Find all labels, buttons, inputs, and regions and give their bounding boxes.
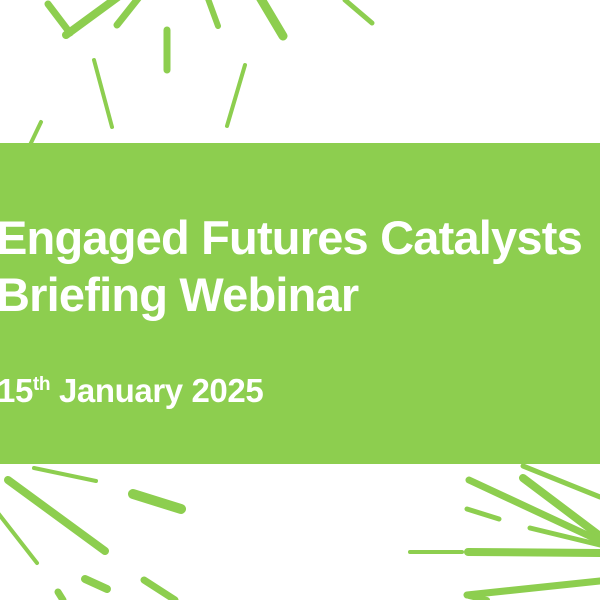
ray <box>30 122 41 145</box>
ray <box>34 468 96 481</box>
ray <box>144 580 175 600</box>
ray <box>58 592 63 600</box>
title-banner-text: Engaged Futures Catalysts Briefing Webin… <box>0 143 600 464</box>
ray <box>227 65 245 126</box>
ray <box>85 579 107 589</box>
ray <box>467 509 499 519</box>
ray <box>523 466 600 497</box>
event-date-rest: January 2025 <box>50 372 263 409</box>
ray <box>117 0 140 25</box>
ray <box>8 480 105 551</box>
ray <box>530 528 600 545</box>
event-date-day: 15 <box>0 372 33 409</box>
ray <box>469 480 600 541</box>
ray <box>66 0 122 35</box>
ray <box>468 552 600 553</box>
ray <box>48 4 70 33</box>
ray <box>133 494 181 509</box>
webinar-title-slide: Engaged Futures Catalysts Briefing Webin… <box>0 0 600 600</box>
page-title: Engaged Futures Catalysts Briefing Webin… <box>0 209 600 323</box>
ray <box>523 478 600 536</box>
ray <box>207 0 218 26</box>
event-date: 15th January 2025 <box>0 371 263 411</box>
ray <box>258 0 283 36</box>
ray <box>469 596 487 600</box>
ray <box>345 0 372 23</box>
ray <box>0 513 37 563</box>
ray <box>94 60 112 127</box>
ray <box>467 581 600 595</box>
event-date-ordinal-suffix: th <box>33 374 50 395</box>
